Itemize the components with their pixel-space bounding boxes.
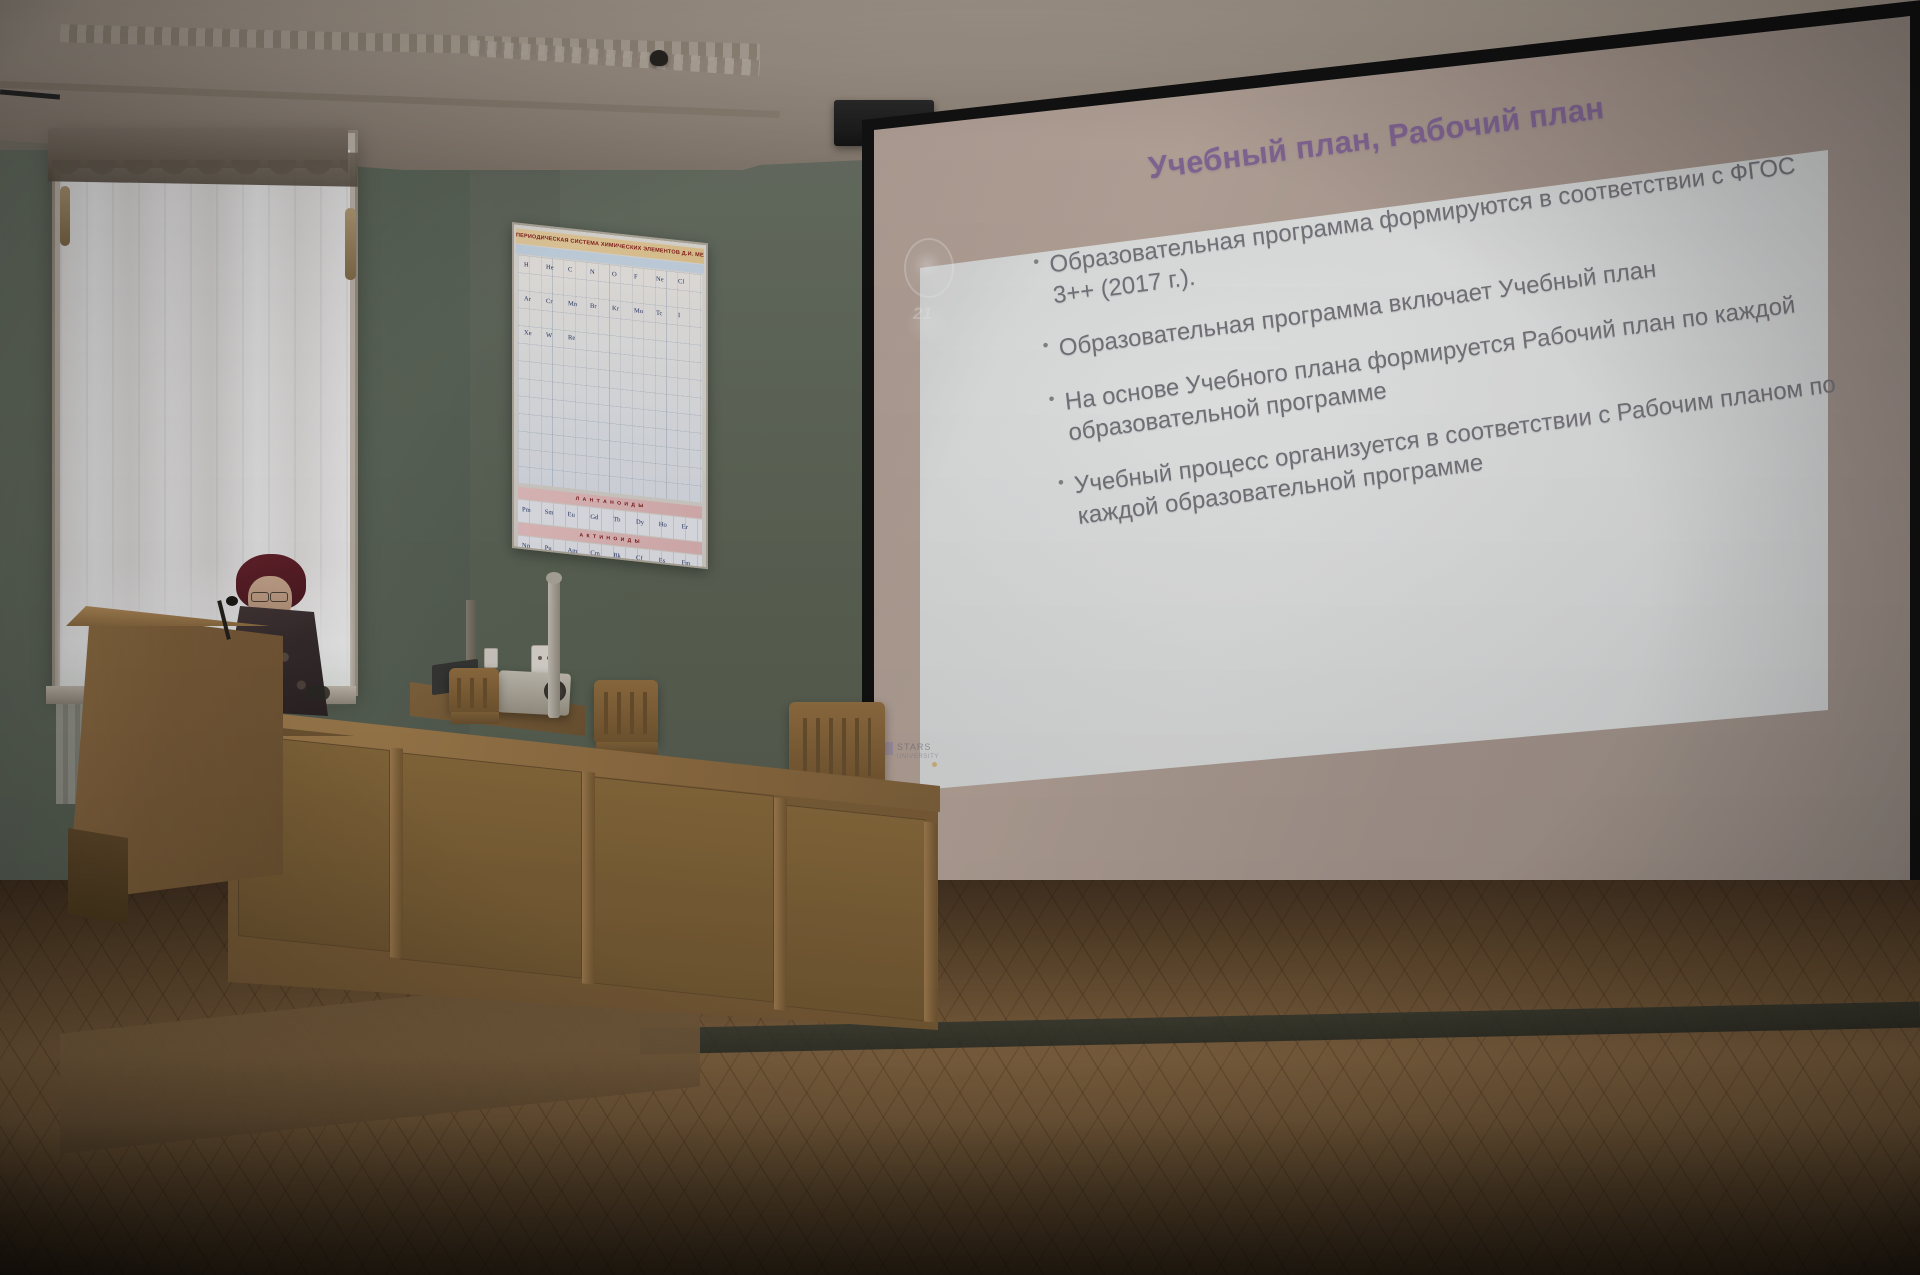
poster-element-cell: Kr: [612, 305, 619, 313]
anniversary-21-icon: 21: [907, 300, 949, 346]
floor-pole: [548, 578, 560, 718]
anniversary-number: 21: [913, 304, 932, 324]
poster-element-cell: Sm: [545, 509, 554, 517]
poster-element-cell: Dy: [636, 518, 644, 526]
poster-element-cell: Xe: [524, 329, 532, 337]
poster-element-cell: Gd: [590, 514, 598, 522]
chair-slats: [457, 678, 491, 708]
poster-element-cell: Cl: [678, 278, 684, 286]
poster-element-cell: Mo: [634, 307, 643, 315]
slide-footer-logo: STARS UNIVERSITY: [880, 742, 938, 776]
chair-slats: [803, 718, 871, 776]
table-panel: [400, 752, 582, 978]
poster-element-cell: He: [546, 264, 554, 272]
curtain-tassel-right: [345, 208, 356, 280]
poster-element-cell: Ar: [524, 295, 531, 303]
table-column: [924, 821, 937, 1022]
poster-element-cell: Cf: [636, 554, 643, 562]
table-column: [774, 797, 787, 1010]
poster-element-cell: Bk: [613, 552, 621, 560]
poster-element-cell: F: [634, 273, 638, 280]
poster-element-cell: Am: [568, 547, 578, 555]
presenter-glasses-left: [251, 592, 269, 602]
poster-element-cell: Mn: [568, 300, 577, 308]
microphone-icon: [226, 596, 238, 606]
poster-element-cell: Cm: [590, 550, 599, 558]
slide-bullet-list: • Образовательная программа формируются …: [1032, 147, 1849, 556]
wall-switch[interactable]: [484, 648, 498, 668]
computer-mouse[interactable]: [306, 686, 330, 700]
chair-slats: [604, 692, 648, 734]
photo-scene: ПЕРИОДИЧЕСКАЯ СИСТЕМА ХИМИЧЕСКИХ ЭЛЕМЕНТ…: [0, 0, 1920, 1275]
table-column: [582, 771, 595, 984]
poster-element-cell: Pm: [522, 506, 531, 514]
presenter-glasses-right: [270, 592, 288, 602]
poster-element-cell: I: [678, 312, 680, 319]
slide-content: Учебный план, Рабочий план • Образовател…: [940, 32, 1875, 705]
table-panel: [784, 805, 926, 1022]
periodic-table-poster: ПЕРИОДИЧЕСКАЯ СИСТЕМА ХИМИЧЕСКИХ ЭЛЕМЕНТ…: [512, 222, 708, 569]
poster-element-cell: Np: [522, 542, 530, 550]
logo-dot-icon: [932, 762, 937, 767]
poster-element-cell: N: [590, 268, 595, 276]
curtain-tassel-left: [60, 186, 70, 246]
poster-element-cell: Tb: [613, 516, 620, 524]
logo-line-1: STARS: [897, 742, 931, 752]
ceiling-sensor-icon: [650, 50, 668, 66]
poster-element-cell: Ne: [656, 276, 664, 284]
poster-element-cell: H: [524, 261, 529, 269]
poster-element-cell: Ho: [659, 521, 667, 529]
poster-element-cell: Pu: [545, 545, 552, 553]
poster-element-cell: Br: [590, 302, 597, 310]
table-column: [390, 747, 403, 958]
poster-element-cell: W: [546, 332, 552, 340]
podium-side-panel: [68, 828, 128, 924]
poster-element-cell: Tc: [656, 310, 662, 318]
poster-element-cell: O: [612, 271, 617, 279]
logo-line-2: UNIVERSITY: [897, 754, 939, 760]
pelmet-scallop-trim: [48, 160, 348, 186]
chair-seat: [451, 712, 499, 724]
poster-element-cell: Re: [568, 334, 575, 342]
university-emblem-inner: [914, 250, 940, 280]
poster-element-cell: Es: [659, 557, 666, 565]
pole-cap: [546, 572, 562, 584]
poster-element-cell: C: [568, 266, 572, 273]
poster-element-grid: HHeCNOFNeClArCrMnBrKrMoTcIXeWRe: [518, 255, 702, 503]
poster-element-cell: Fm: [682, 559, 691, 567]
poster-element-cell: Cr: [546, 298, 553, 306]
poster-element-cell: Er: [682, 523, 688, 531]
table-panel: [592, 776, 774, 1002]
poster-element-cell: Eu: [568, 511, 575, 519]
